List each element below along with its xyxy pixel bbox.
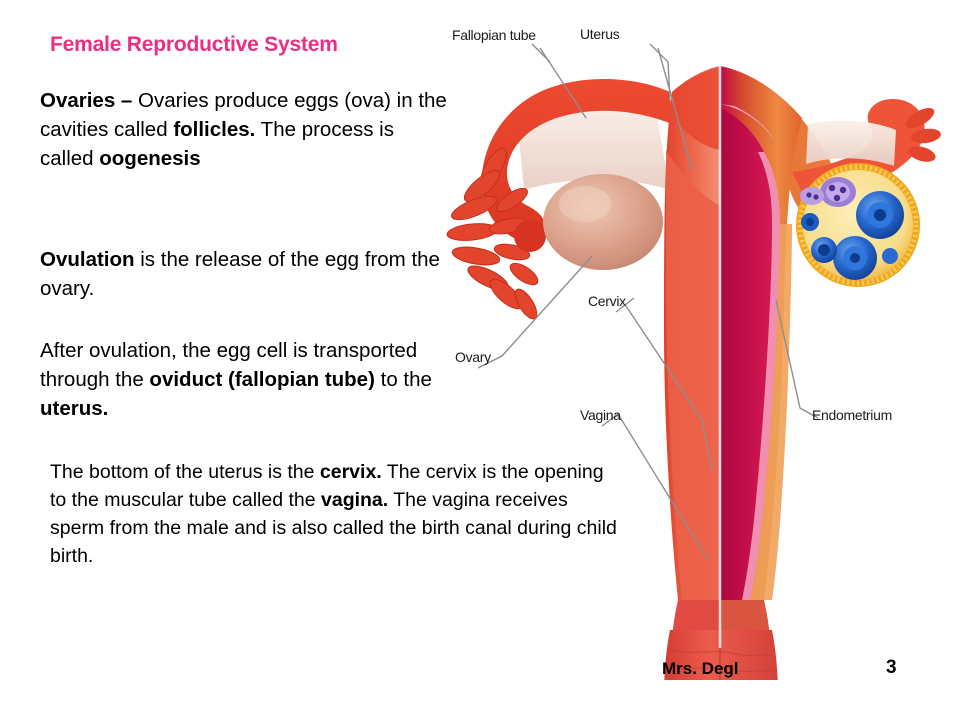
label-uterus: Uterus <box>580 26 619 42</box>
label-fallopian-tube: Fallopian tube <box>452 27 536 43</box>
text-run-3: vagina. <box>321 489 388 511</box>
text-run-0: Ovaries – <box>40 89 138 112</box>
text-run-3: uterus. <box>40 397 108 420</box>
text-run-0: Ovulation <box>40 248 135 271</box>
text-block-after-ovulation: After ovulation, the egg cell is transpo… <box>40 336 450 423</box>
slide-canvas: Female Reproductive System Ovaries – Ova… <box>0 0 960 720</box>
text-run-1: oviduct (fallopian tube) <box>149 368 375 391</box>
anatomy-illustration <box>420 0 960 680</box>
label-cervix: Cervix <box>588 293 626 309</box>
footer-page-number: 3 <box>886 657 897 679</box>
label-endometrium: Endometrium <box>812 407 892 423</box>
label-ovary: Ovary <box>455 349 491 365</box>
ovary-cross-section-right <box>796 163 920 287</box>
text-run-4: oogenesis <box>99 147 200 170</box>
text-run-1: cervix. <box>320 461 382 483</box>
text-run-2: follicles. <box>173 118 255 141</box>
footer-author: Mrs. Degl <box>662 659 739 679</box>
page-title: Female Reproductive System <box>50 33 338 57</box>
text-run-0: The bottom of the uterus is the <box>50 461 320 483</box>
text-block-ovulation: Ovulation is the release of the egg from… <box>40 245 450 303</box>
reproductive-system-diagram <box>420 0 960 680</box>
label-vagina: Vagina <box>580 407 621 423</box>
ovary-left <box>543 174 663 270</box>
ovary-left-highlight <box>559 186 611 222</box>
fimbriae-hub-left <box>514 220 546 252</box>
text-block-ovaries: Ovaries – Ovaries produce eggs (ova) in … <box>40 86 450 173</box>
